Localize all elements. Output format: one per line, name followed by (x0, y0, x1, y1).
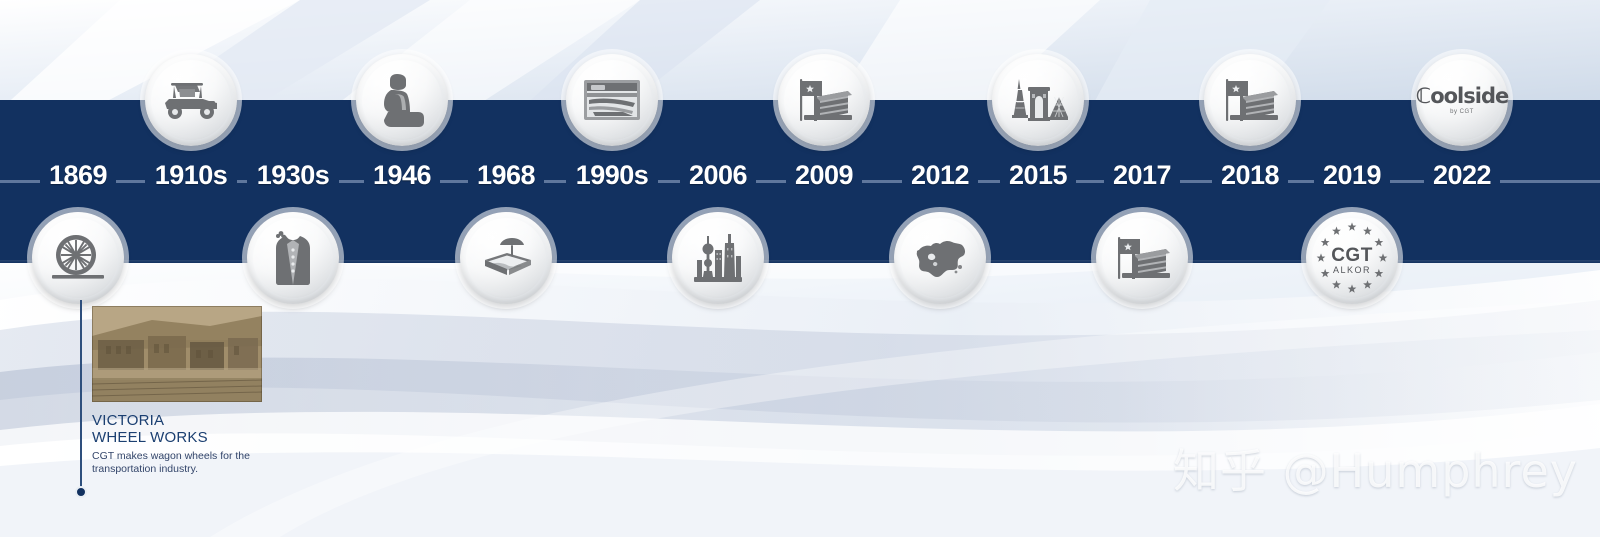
year-label-1869: 1869 (49, 160, 107, 191)
poolside-logo: ℂoolside by CGT (1416, 86, 1508, 115)
milestone-bubble-2022[interactable]: ℂoolside by CGT (1416, 54, 1508, 146)
flag-factory-icon (794, 77, 854, 123)
year-label-2018: 2018 (1221, 160, 1279, 191)
year-label-2015: 2015 (1009, 160, 1067, 191)
wagon-wheel-icon (51, 233, 105, 283)
milestone-bubble-2018[interactable] (1204, 54, 1296, 146)
callout-stem (80, 300, 82, 490)
milestone-bubble-2006[interactable] (672, 212, 764, 304)
callout-endpoint-dot (75, 486, 87, 498)
poolside-logo-text: ℂoolside by CGT (1416, 86, 1508, 115)
historic-factory-photo (92, 306, 262, 402)
paris-landmarks-icon (1008, 77, 1068, 123)
milestone-bubble-1968[interactable] (460, 212, 552, 304)
car-seat-icon (378, 72, 426, 128)
year-label-1968: 1968 (477, 160, 535, 191)
year-label-1930s: 1930s (257, 160, 330, 191)
year-label-1910s: 1910s (155, 160, 228, 191)
cgt-alkor-logo: CGT ALKOR (1311, 217, 1393, 299)
raincoat-icon (273, 230, 313, 286)
year-label-2009: 2009 (795, 160, 853, 191)
callout-title-line2: WHEEL WORKS (92, 429, 208, 446)
milestone-bubble-1910s[interactable] (145, 54, 237, 146)
year-label-2017: 2017 (1113, 160, 1171, 191)
watermark: 知乎 @Humphrey (1173, 435, 1578, 501)
milestone-bubble-2009[interactable] (778, 54, 870, 146)
flag-factory-icon (1220, 77, 1280, 123)
callout-body: CGT makes wagon wheels for the transport… (92, 450, 264, 476)
year-label-2019: 2019 (1323, 160, 1381, 191)
milestone-bubble-1990s[interactable] (566, 54, 658, 146)
milestone-bubble-1869[interactable] (32, 212, 124, 304)
milestone-bubble-2017[interactable] (1096, 212, 1188, 304)
swimming-pool-icon (477, 234, 535, 282)
milestone-bubble-1930s[interactable] (247, 212, 339, 304)
antique-car-icon (161, 79, 221, 121)
year-label-1990s: 1990s (576, 160, 649, 191)
milestone-bubble-2015[interactable] (992, 54, 1084, 146)
year-label-1946: 1946 (373, 160, 431, 191)
milestone-bubble-2012[interactable] (894, 212, 986, 304)
cgt-alkor-text: CGT ALKOR (1311, 246, 1393, 275)
callout-photo (92, 306, 262, 402)
year-label-2006: 2006 (689, 160, 747, 191)
china-map-icon (912, 234, 968, 282)
milestone-bubble-1946[interactable] (356, 54, 448, 146)
cgt-alkor-logo-wrap: CGT ALKOR (1311, 217, 1393, 299)
flag-factory-icon (1112, 235, 1172, 281)
callout-title-line1: VICTORIA (92, 412, 208, 429)
shanghai-skyline-icon (692, 230, 744, 286)
timeline-infographic: 知乎 @Humphrey 1869 1910s (0, 0, 1600, 537)
milestone-bubble-2019[interactable]: CGT ALKOR (1306, 212, 1398, 304)
year-label-2022: 2022 (1433, 160, 1491, 191)
callout-title: VICTORIA WHEEL WORKS (92, 412, 208, 446)
year-label-2012: 2012 (911, 160, 969, 191)
door-panel-icon (583, 79, 641, 121)
